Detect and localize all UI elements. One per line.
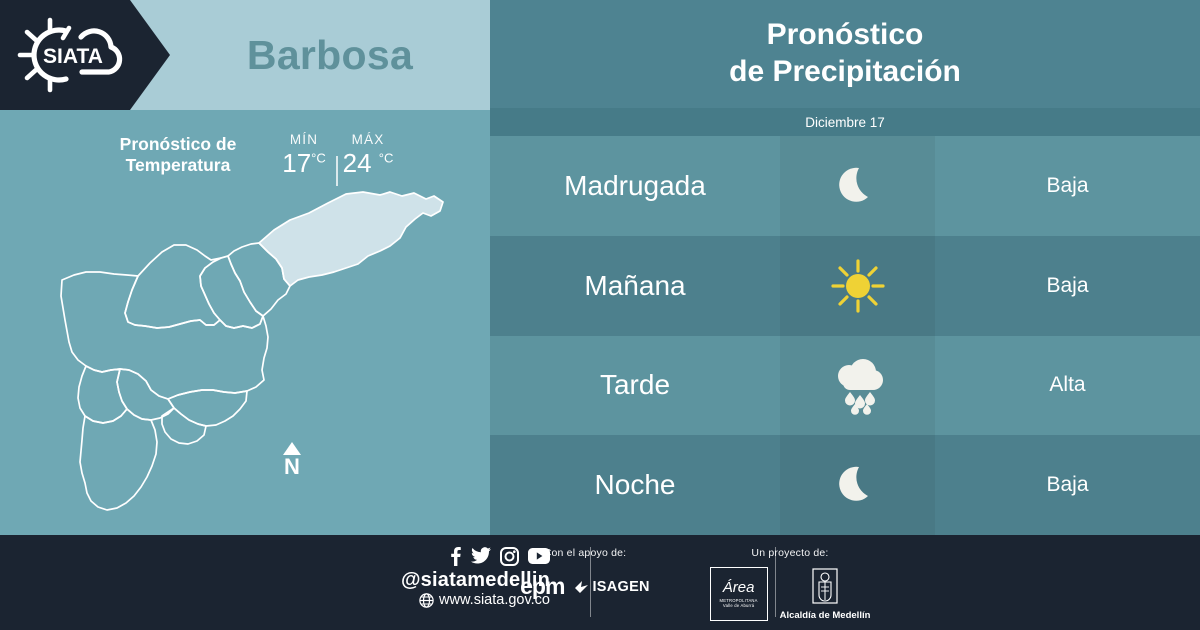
area-metropolitana-logo: Área METROPOLITANA Valle de Aburrá [710,567,768,621]
facebook-icon[interactable] [449,546,462,566]
support-logos: epm ISAGEN [505,575,665,598]
project-caption: Un proyecto de: [690,547,890,559]
globe-icon [419,593,434,608]
precipitation-panel: Pronóstico de Precipitación Diciembre 17… [490,0,1200,535]
alcaldia-medellin-logo: Alcaldía de Medellín [780,568,871,621]
area-logo-name: Área [723,580,755,595]
footer: @siatamedellin www.siata.gov.co Con el a… [0,535,1200,630]
map-region-caldas [80,409,157,510]
temperature-max-value: 24 °C [336,148,400,179]
forecast-icon-cell [780,435,935,535]
forecast-probability: Alta [935,373,1200,397]
map-region-barbosa [259,192,443,286]
temperature-panel: Pronóstico de Temperatura MÍN 17°C MÁX 2… [0,110,490,535]
sun-icon [828,256,888,316]
forecast-date: Diciembre 17 [490,108,1200,136]
temperature-max-unit: °C [379,150,394,165]
sun-cloud-icon: SIATA [14,14,132,96]
forecast-table: Madrugada Baja Mañana [490,136,1200,535]
alcaldia-label: Alcaldía de Medellín [780,610,871,621]
forecast-period: Noche [490,469,780,501]
precipitation-title-line2: de Precipitación [729,54,961,91]
map-region-medellin [61,272,268,399]
table-row: Madrugada Baja [490,136,1200,236]
temperature-max-label: MÁX [336,132,400,147]
temperature-title-line1: Pronóstico de [88,134,268,155]
north-arrow: N [274,442,310,488]
isagen-logo: ISAGEN [574,579,649,595]
precipitation-title: Pronóstico de Precipitación [490,0,1200,108]
support-caption: Con el apoyo de: [505,547,665,559]
page-title: Barbosa [170,0,490,110]
temperature-title: Pronóstico de Temperatura [88,134,268,177]
temperature-min-unit: °C [311,150,326,165]
moon-icon [829,456,887,514]
forecast-period: Tarde [490,369,780,401]
map-region-itagui [117,369,174,420]
precipitation-title-line1: Pronóstico [767,17,924,54]
forecast-period: Madrugada [490,170,780,202]
map-region-bello [125,245,221,328]
forecast-icon-cell [780,336,935,436]
forecast-icon-cell [780,136,935,236]
table-row: Mañana [490,236,1200,336]
forecast-icon-cell [780,236,935,336]
forecast-probability: Baja [935,174,1200,198]
map-region-copacabana [200,256,263,328]
aburra-valley-map [28,180,468,530]
temperature-title-line2: Temperatura [88,155,268,176]
siata-logo-text: SIATA [43,45,103,68]
map-region-la-estrella [78,366,127,423]
temperature-min-value: 17°C [272,148,336,179]
weather-forecast-card: SIATA Barbosa Pronóstico de Temperatura … [0,0,1200,630]
map-svg [28,180,468,530]
alcaldia-crest-icon [810,568,840,608]
temperature-min-label: MÍN [272,132,336,147]
footer-support: Con el apoyo de: epm ISAGEN [505,547,665,598]
forecast-period: Mañana [490,270,780,302]
moon-icon [829,157,887,215]
isagen-mark-icon [574,579,589,594]
table-row: Tarde [490,336,1200,436]
isagen-label: ISAGEN [592,579,649,595]
forecast-probability: Baja [935,274,1200,298]
temperature-max: MÁX 24 °C [336,132,400,179]
epm-logo: epm [520,575,564,598]
temperature-min: MÍN 17°C [272,132,336,179]
north-arrow-label: N [274,456,310,478]
footer-project: Un proyecto de: Área METROPOLITANA Valle… [690,547,890,621]
area-logo-sub: METROPOLITANA Valle de Aburrá [720,598,758,609]
twitter-icon[interactable] [471,547,491,565]
project-logos: Área METROPOLITANA Valle de Aburrá [690,567,890,621]
forecast-probability: Baja [935,473,1200,497]
map-region-envigado [168,390,247,426]
rain-cloud-icon [827,354,889,416]
table-row: Noche Baja [490,435,1200,535]
